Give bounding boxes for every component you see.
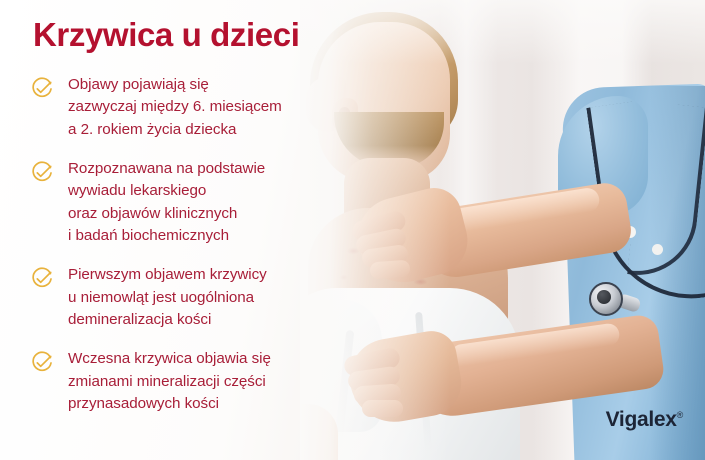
list-item: Objawy pojawiają się zazwyczaj między 6.… — [30, 74, 400, 141]
list-item-label: Objawy pojawiają się zazwyczaj między 6.… — [68, 74, 282, 141]
infographic-poster: Krzywica u dzieci Objawy pojawiają się z… — [0, 0, 705, 460]
list-item-label: Pierwszym objawem krzywicy u niemowląt j… — [68, 264, 267, 331]
stethoscope-earpiece-right — [652, 244, 663, 255]
list-item-label: Rozpoznawana na podstawie wywiadu lekars… — [68, 158, 265, 247]
check-circle-icon — [30, 351, 54, 375]
list-item: Rozpoznawana na podstawie wywiadu lekars… — [30, 158, 400, 247]
check-circle-icon — [30, 161, 54, 185]
trademark-symbol: ® — [677, 410, 683, 420]
bullet-list: Objawy pojawiają się zazwyczaj między 6.… — [30, 74, 400, 432]
page-title: Krzywica u dzieci — [33, 17, 299, 53]
check-circle-icon — [30, 267, 54, 291]
check-circle-icon — [30, 77, 54, 101]
brand-logo-text: Vigalex — [606, 408, 677, 431]
text-panel: Krzywica u dzieci Objawy pojawiają się z… — [0, 0, 420, 460]
brand-logo: Vigalex® — [606, 408, 683, 432]
list-item-label: Wczesna krzywica objawia się zmianami mi… — [68, 348, 271, 415]
list-item: Wczesna krzywica objawia się zmianami mi… — [30, 348, 400, 415]
stethoscope-chestpiece — [589, 282, 623, 316]
list-item: Pierwszym objawem krzywicy u niemowląt j… — [30, 264, 400, 331]
